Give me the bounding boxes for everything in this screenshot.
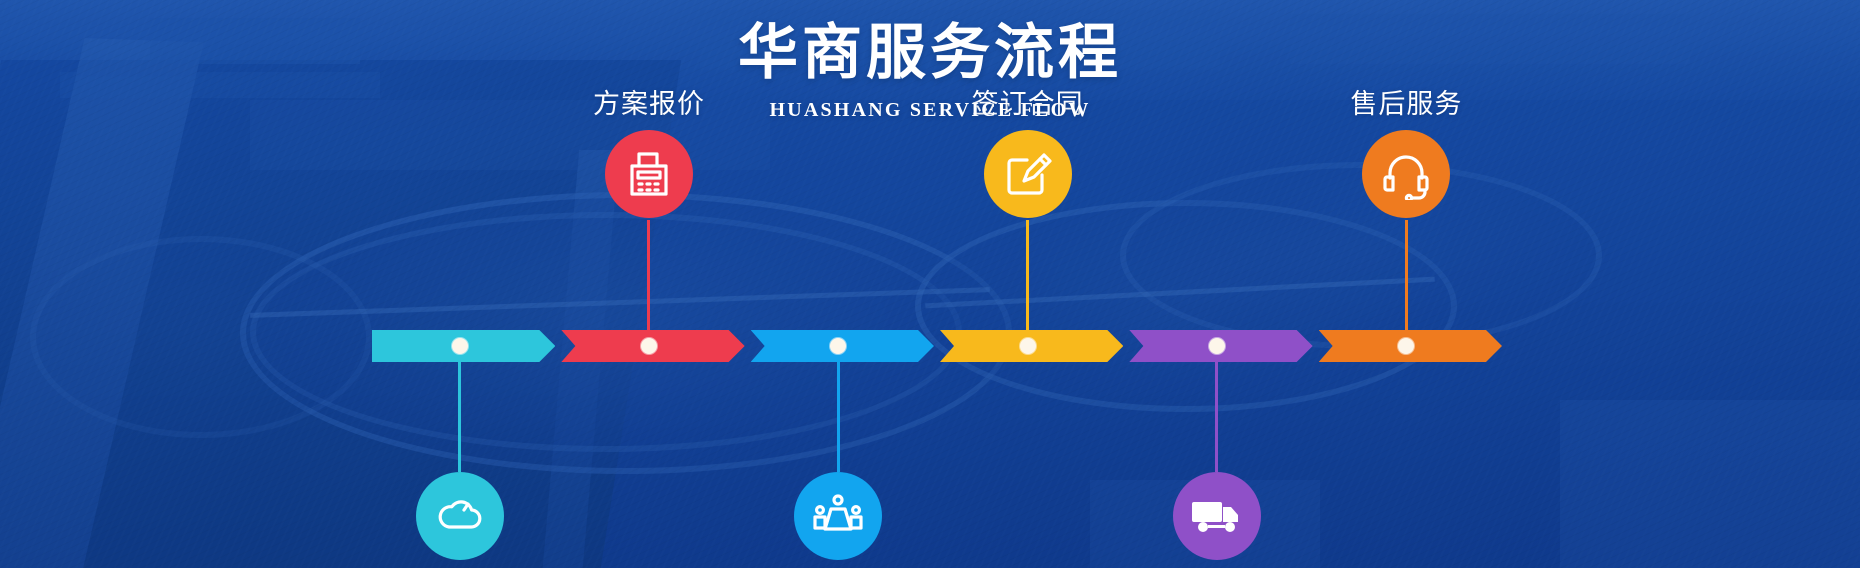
truck-icon: [1189, 494, 1245, 538]
flow-connector-4: [1026, 220, 1029, 330]
flow-connector-1: [458, 362, 461, 472]
flow-connector-3: [837, 362, 840, 472]
flow-step-5[interactable]: 物流安装: [1117, 472, 1317, 568]
page-title: 华商服务流程: [0, 0, 1860, 88]
flow-connector-6: [1405, 220, 1408, 330]
service-flow-banner: 华商服务流程 HUASHANG SERVICE FLOW 客户询问方案报价洽谈合…: [0, 0, 1860, 568]
calculator-receipt-icon-bubble[interactable]: [605, 130, 693, 218]
pen-edit-icon-bubble[interactable]: [984, 130, 1072, 218]
pen-edit-icon: [1002, 148, 1054, 200]
flow-segment-6[interactable]: [1319, 330, 1502, 362]
flow-node-dot-2: [641, 338, 657, 354]
flow-bar: [372, 330, 1502, 362]
flow-step-1[interactable]: 客户询问: [360, 472, 560, 568]
flow-node-dot-1: [452, 338, 468, 354]
calculator-receipt-icon: [625, 148, 673, 200]
truck-icon-bubble[interactable]: [1173, 472, 1261, 560]
flow-segment-5[interactable]: [1129, 330, 1312, 362]
flow-connector-5: [1215, 362, 1218, 472]
service-flow-diagram: 客户询问方案报价洽谈合同签订合同物流安装售后服务: [372, 148, 1502, 548]
flow-step-3[interactable]: 洽谈合同: [738, 472, 938, 568]
flow-segment-1[interactable]: [372, 330, 555, 362]
flow-node-dot-4: [1020, 338, 1036, 354]
headset-icon-bubble[interactable]: [1362, 130, 1450, 218]
flow-segment-3[interactable]: [751, 330, 934, 362]
cloud-icon-bubble[interactable]: [416, 472, 504, 560]
banner-headings: 华商服务流程 HUASHANG SERVICE FLOW: [0, 0, 1860, 122]
page-subtitle: HUASHANG SERVICE FLOW: [0, 88, 1860, 122]
meeting-table-icon-bubble[interactable]: [794, 472, 882, 560]
headset-icon: [1380, 148, 1432, 200]
flow-segment-2[interactable]: [561, 330, 744, 362]
meeting-table-icon: [811, 491, 865, 541]
flow-connector-2: [647, 220, 650, 330]
flow-node-dot-5: [1209, 338, 1225, 354]
cloud-icon: [434, 490, 486, 542]
flow-segment-4[interactable]: [940, 330, 1123, 362]
